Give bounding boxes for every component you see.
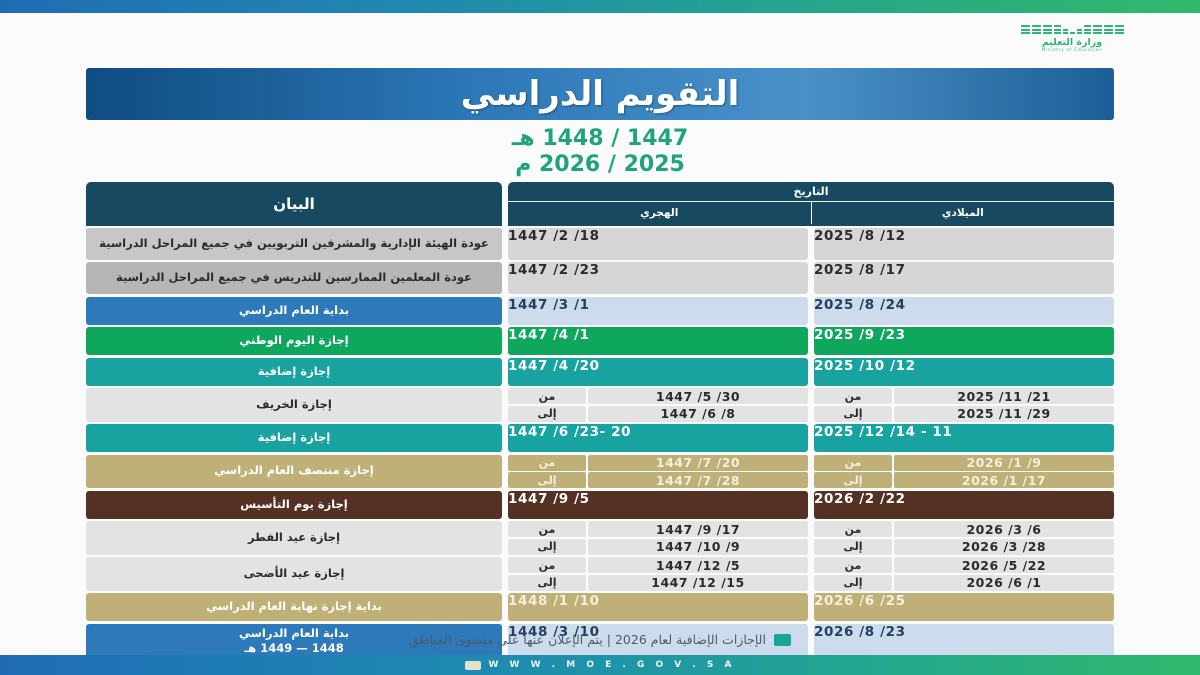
cell-gregorian: 2025 /8 /17 (814, 262, 1114, 294)
cell-hijri: 1447 /2 /23 (508, 262, 808, 294)
logo-text-en: Ministry of Education (1041, 48, 1102, 53)
header-date-group: التاريخ الميلادي الهجري (508, 182, 1114, 226)
cell-bayan: إجازة الخريف (86, 388, 502, 422)
label-from: من (508, 521, 586, 537)
label-from: من (814, 557, 892, 573)
label-to: إلى (508, 575, 586, 591)
cell-hijri: 1447 /4 /20 (508, 358, 808, 386)
cell-bayan: إجازة اليوم الوطني (86, 327, 502, 355)
cell-gregorian: 2025 /8 /12 (814, 228, 1114, 260)
cell-hijri: 1447 /2 /18 (508, 228, 808, 260)
cell-hijri-range: 1447 /12 /5من1447 /12 /15إلى (508, 557, 808, 591)
ministry-logo: وزارة التعليم Ministry of Education (992, 14, 1152, 62)
table-header: التاريخ الميلادي الهجري البيان (86, 182, 1114, 226)
title-banner: التقويم الدراسي (86, 68, 1114, 120)
cell-bayan: عودة المعلمين الممارسين للتدريس في جميع … (86, 262, 502, 294)
cell-hijri-range: 1447 /5 /30من1447 /6 /8إلى (508, 388, 808, 422)
date-hijri-to: 1447 /12 /15 (588, 575, 808, 591)
cell-hijri: 1447 /4 /1 (508, 327, 808, 355)
website-url: W W W . M O E . G O V . S A (489, 660, 736, 670)
label-from: من (508, 455, 586, 471)
cell-bayan: إجازة إضافية (86, 424, 502, 452)
cell-gregorian: 2026 /6 /25 (814, 593, 1114, 621)
date-hijri-from: 1447 /5 /30 (588, 388, 808, 404)
cell-bayan: إجازة عيد الأضحى (86, 557, 502, 591)
label-to: إلى (508, 472, 586, 488)
table-row: 2025 /10 /121447 /4 /20إجازة إضافية (86, 358, 1114, 386)
date-gregorian-to: 2026 /3 /28 (894, 539, 1114, 555)
label-from: من (814, 521, 892, 537)
table-row: 2026 /2 /221447 /9 /5إجازة يوم التأسيس (86, 491, 1114, 519)
table-row: 2026 /6 /251448 /1 /10بداية إجازة نهاية … (86, 593, 1114, 621)
cell-hijri: 1447 /3 /1 (508, 297, 808, 325)
cell-hijri-range: 1447 /9 /17من1447 /10 /9إلى (508, 521, 808, 555)
date-gregorian-from: 2025 /11 /21 (894, 388, 1114, 404)
cell-hijri: 1447 /9 /5 (508, 491, 808, 519)
bottom-chip-icon (465, 661, 481, 670)
cell-gregorian: 2025 /9 /23 (814, 327, 1114, 355)
table-row: 2025 /8 /121447 /2 /18عودة الهيئة الإدار… (86, 228, 1114, 260)
cell-bayan: بداية إجازة نهاية العام الدراسي (86, 593, 502, 621)
header-gregorian: الميلادي (811, 202, 1115, 224)
label-to: إلى (814, 406, 892, 422)
date-hijri-to: 1447 /6 /8 (588, 406, 808, 422)
cell-gregorian: 2025 /10 /12 (814, 358, 1114, 386)
date-gregorian-to: 2025 /11 /29 (894, 406, 1114, 422)
cell-hijri: 1447 /6 /23- 20 (508, 424, 808, 452)
cell-bayan: عودة الهيئة الإدارية والمشرفين التربويين… (86, 228, 502, 260)
logo-pattern-icon (1021, 14, 1124, 34)
year-labels: 1447 / 1448 هـ 2025 / 2026 م (0, 126, 1200, 177)
table-row: 2026 /1 /9من2026 /1 /17إلى1447 /7 /20من1… (86, 455, 1114, 489)
logo-text-ar: وزارة التعليم (1042, 37, 1102, 48)
cell-gregorian: 2026 /2 /22 (814, 491, 1114, 519)
header-hijri: الهجري (508, 202, 811, 224)
footer-note: الإجازات الإضافية لعام 2026 | يتم الإعلا… (0, 632, 1200, 647)
cell-hijri: 1448 /1 /10 (508, 593, 808, 621)
table-row: 2026 /5 /22من2026 /6 /1إلى1447 /12 /5من1… (86, 557, 1114, 591)
cell-hijri-range: 1447 /7 /20من1447 /7 /28إلى (508, 455, 808, 489)
table-row: 2026 /3 /6من2026 /3 /28إلى1447 /9 /17من1… (86, 521, 1114, 555)
note-text: الإجازات الإضافية لعام 2026 | يتم الإعلا… (409, 632, 766, 647)
cell-gregorian: 2025 /12 /14 - 11 (814, 424, 1114, 452)
table-row: 2025 /12 /14 - 111447 /6 /23- 20إجازة إض… (86, 424, 1114, 452)
date-gregorian-to: 2026 /1 /17 (894, 472, 1114, 488)
page-title: التقويم الدراسي (461, 74, 739, 114)
note-swatch-icon (774, 634, 791, 646)
date-hijri-from: 1447 /7 /20 (588, 455, 808, 471)
cell-bayan: إجازة إضافية (86, 358, 502, 386)
date-hijri-from: 1447 /9 /17 (588, 521, 808, 537)
calendar-poster: وزارة التعليم Ministry of Education التق… (0, 0, 1200, 675)
cell-gregorian: 2025 /8 /24 (814, 297, 1114, 325)
label-from: من (814, 388, 892, 404)
calendar-table: التاريخ الميلادي الهجري البيان 2025 /8 /… (86, 182, 1114, 661)
table-row: 2025 /11 /21من2025 /11 /29إلى1447 /5 /30… (86, 388, 1114, 422)
label-to: إلى (814, 472, 892, 488)
label-from: من (508, 557, 586, 573)
table-row: 2025 /9 /231447 /4 /1إجازة اليوم الوطني (86, 327, 1114, 355)
cell-gregorian-range: 2026 /1 /9من2026 /1 /17إلى (814, 455, 1114, 489)
header-bayan: البيان (86, 182, 502, 226)
cell-bayan: بداية العام الدراسي (86, 297, 502, 325)
table-body: 2025 /8 /121447 /2 /18عودة الهيئة الإدار… (86, 228, 1114, 659)
label-to: إلى (508, 539, 586, 555)
date-gregorian-from: 2026 /1 /9 (894, 455, 1114, 471)
cell-bayan: إجازة منتصف العام الدراسي (86, 455, 502, 489)
bottom-gradient-bar: W W W . M O E . G O V . S A (0, 655, 1200, 675)
top-gradient-bar (0, 0, 1200, 13)
date-hijri-to: 1447 /7 /28 (588, 472, 808, 488)
year-gregorian: 2025 / 2026 م (515, 152, 685, 177)
date-gregorian-to: 2026 /6 /1 (894, 575, 1114, 591)
date-gregorian-from: 2026 /5 /22 (894, 557, 1114, 573)
year-hijri: 1447 / 1448 هـ (512, 126, 688, 151)
cell-bayan: إجازة عيد الفطر (86, 521, 502, 555)
table-row: 2025 /8 /171447 /2 /23عودة المعلمين المم… (86, 262, 1114, 294)
table-row: 2025 /8 /241447 /3 /1بداية العام الدراسي (86, 297, 1114, 325)
label-to: إلى (814, 575, 892, 591)
label-to: إلى (814, 539, 892, 555)
date-hijri-from: 1447 /12 /5 (588, 557, 808, 573)
cell-gregorian-range: 2026 /5 /22من2026 /6 /1إلى (814, 557, 1114, 591)
cell-bayan: إجازة يوم التأسيس (86, 491, 502, 519)
cell-gregorian-range: 2026 /3 /6من2026 /3 /28إلى (814, 521, 1114, 555)
cell-gregorian-range: 2025 /11 /21من2025 /11 /29إلى (814, 388, 1114, 422)
header-date-label: التاريخ (508, 182, 1114, 202)
date-hijri-to: 1447 /10 /9 (588, 539, 808, 555)
label-from: من (814, 455, 892, 471)
date-gregorian-from: 2026 /3 /6 (894, 521, 1114, 537)
label-from: من (508, 388, 586, 404)
label-to: إلى (508, 406, 586, 422)
